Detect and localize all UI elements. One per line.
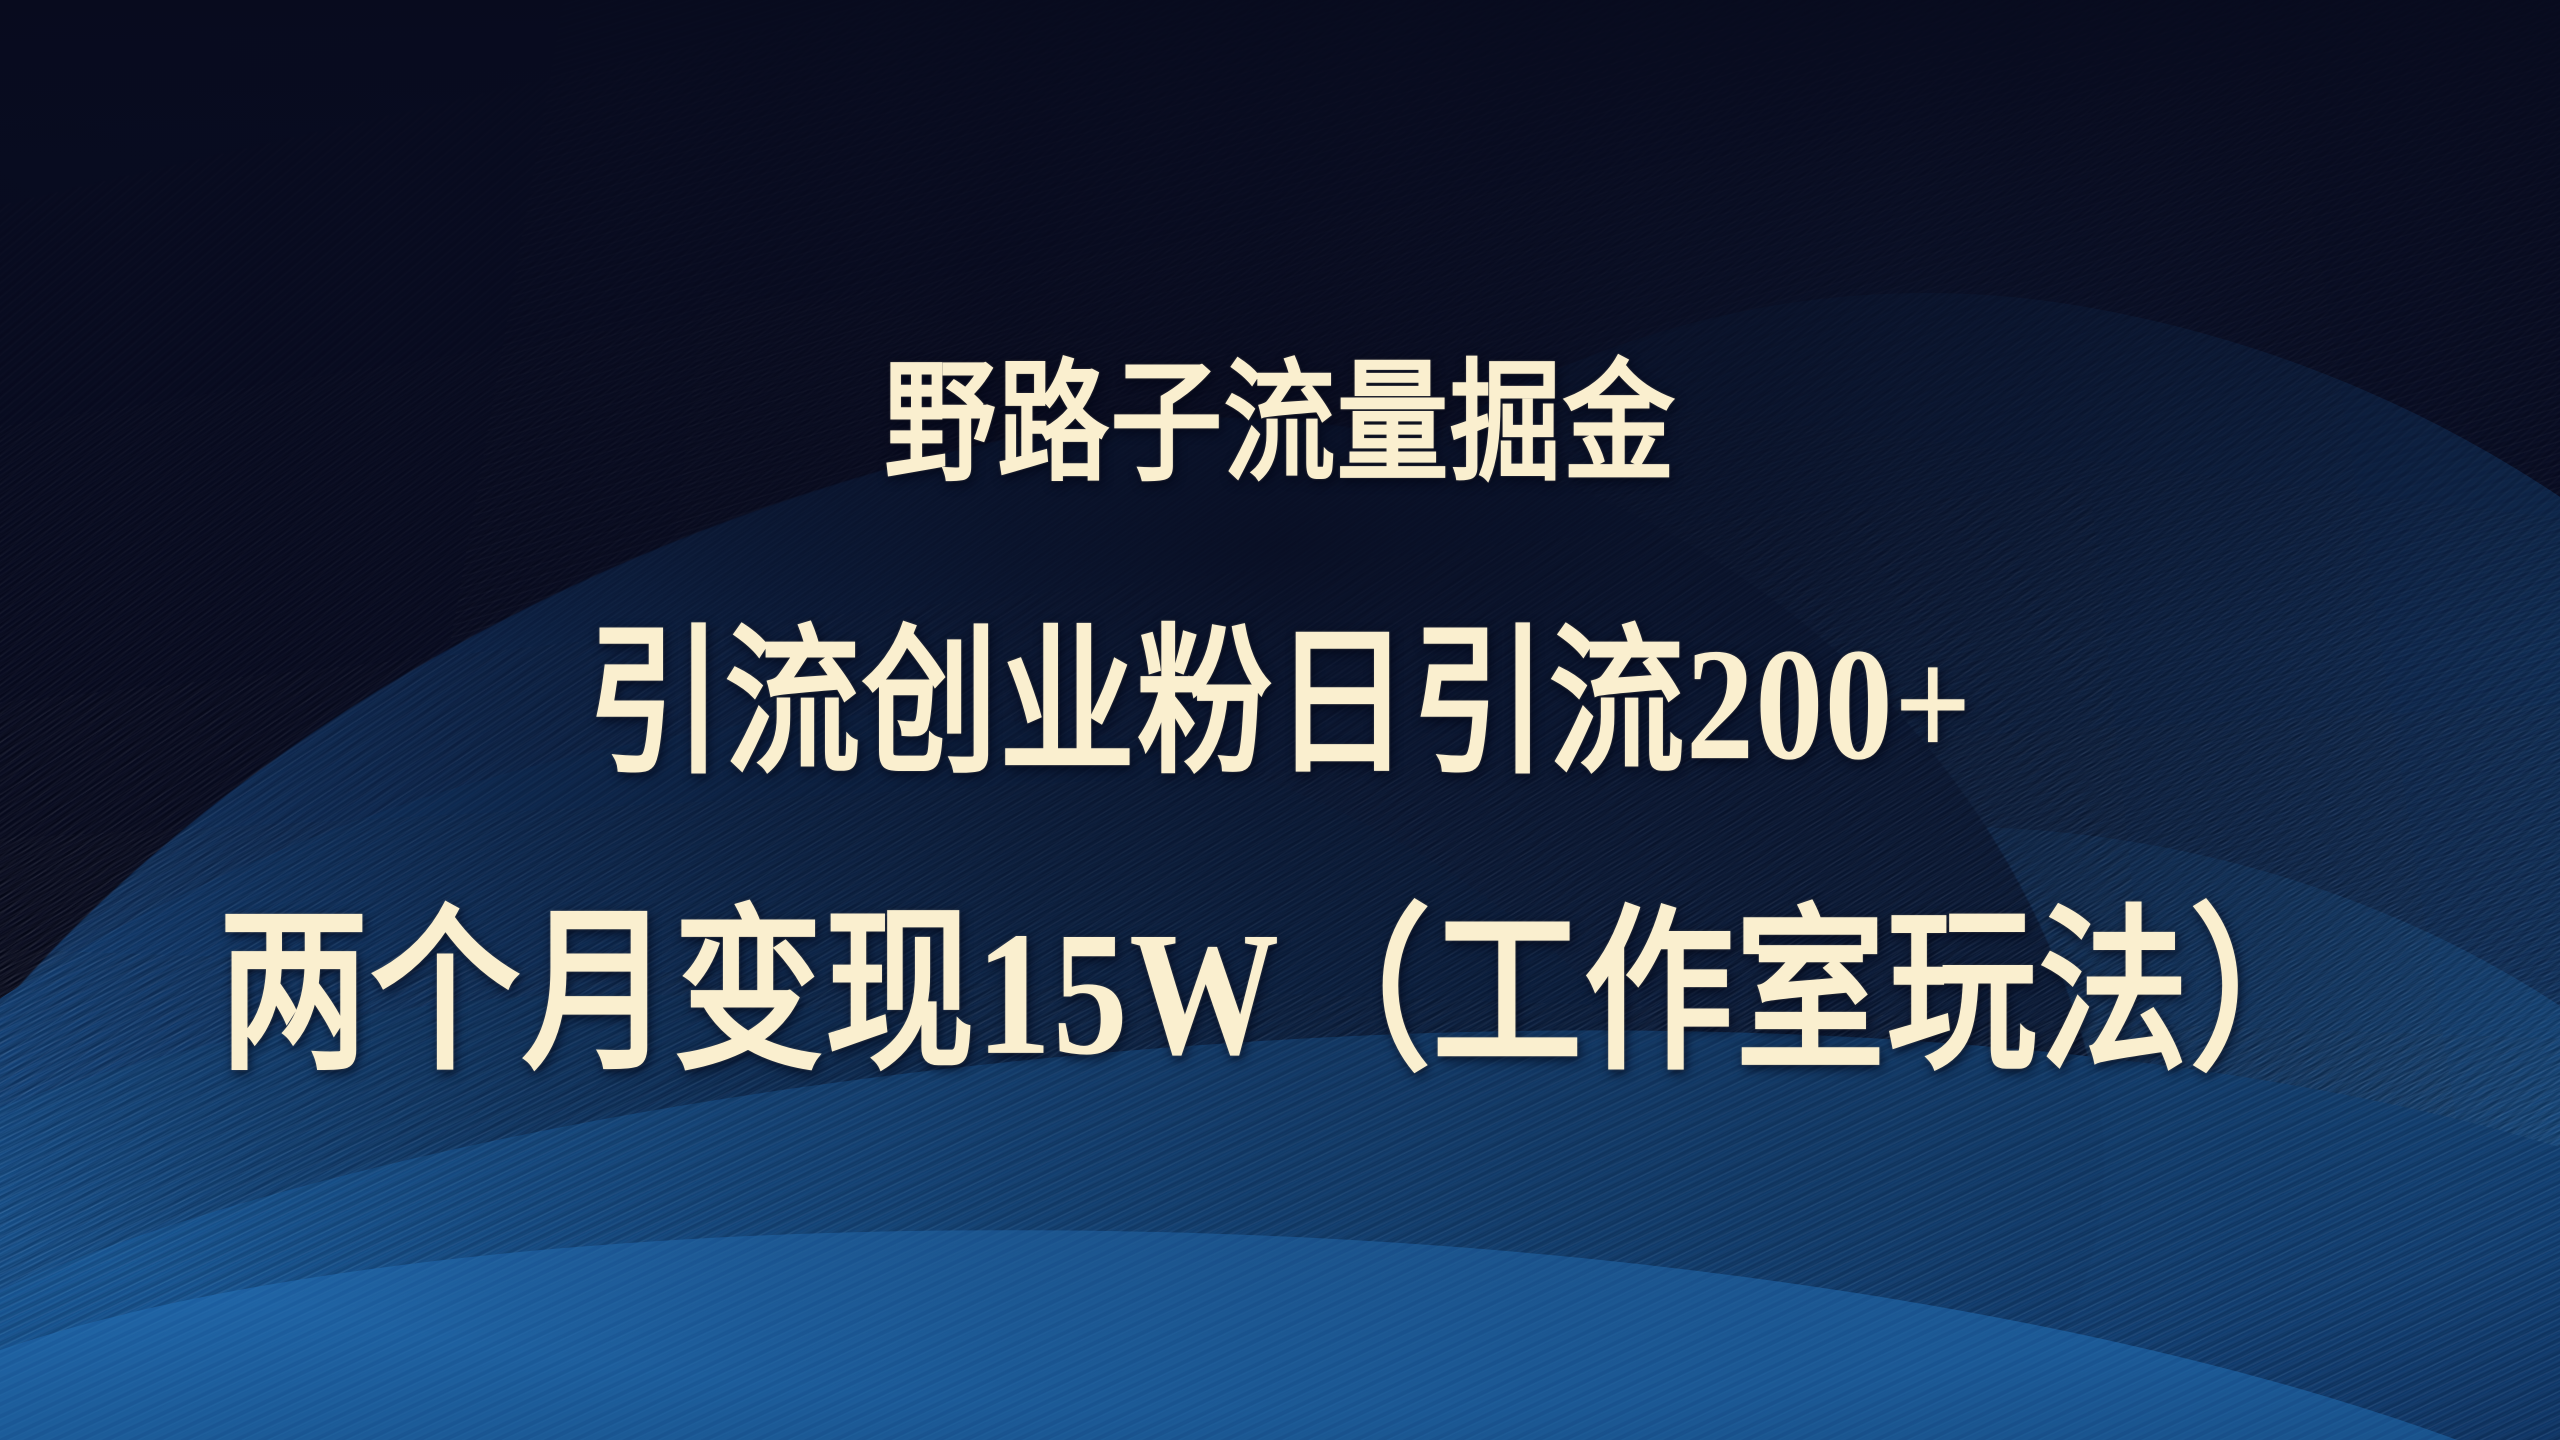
headline-block: 野路子流量掘金 引流创业粉日引流200+ 两个月变现15W（工作室玩法） [0, 0, 2560, 1440]
headline-line-1: 野路子流量掘金 [884, 355, 1676, 495]
headline-line-3: 两个月变现15W（工作室玩法） [219, 901, 2342, 1089]
headline-line-2: 引流创业粉日引流200+ [587, 620, 1973, 790]
poster-canvas: 野路子流量掘金 引流创业粉日引流200+ 两个月变现15W（工作室玩法） [0, 0, 2560, 1440]
